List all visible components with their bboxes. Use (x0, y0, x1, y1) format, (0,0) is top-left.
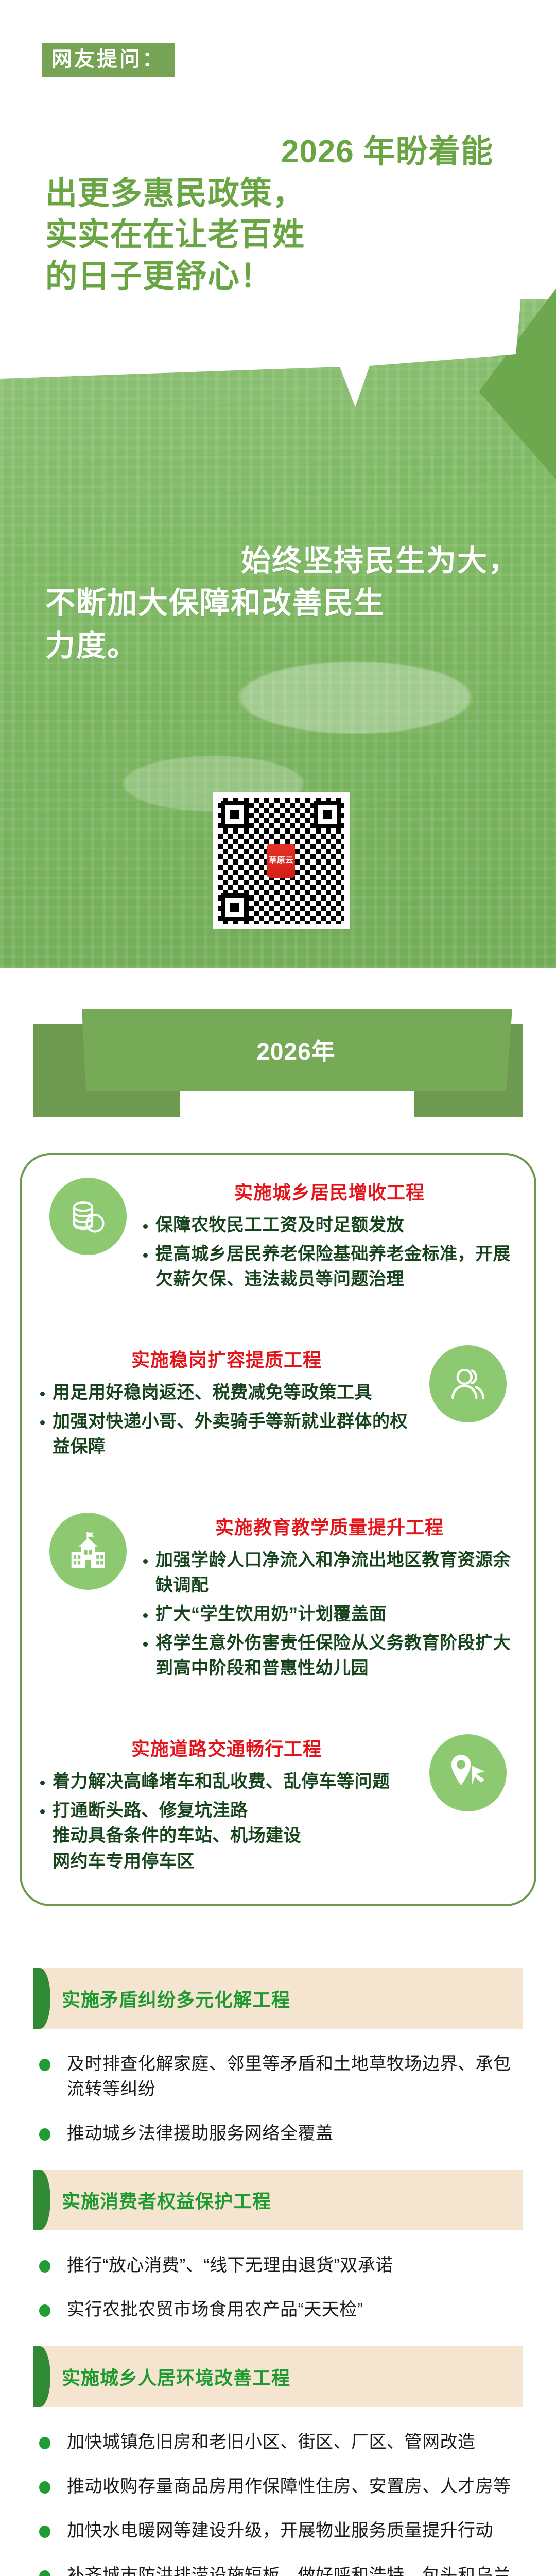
hero-banner: 网友提问： 2026 年盼着能 出更多惠民政策， 实实在在让老百姓 的日子更舒心… (0, 0, 556, 968)
year-ribbon: 2026年 (0, 968, 556, 1153)
policy-card-group: 实施城乡居民增收工程 保障农牧民工工资及时足额发放 提高城乡居民养老保险基础养老… (0, 1153, 556, 1906)
list-item: 补齐城市防洪排涝设施短板，做好呼和浩特、包头和乌兰察布等地灾后重建工作 (36, 2563, 523, 2576)
policy-card-education[interactable]: 实施教育教学质量提升工程 加强学龄人口净流入和净流出地区教育资源余缺调配 扩大“… (20, 1490, 536, 1711)
section-header: 实施消费者权益保护工程 (33, 2170, 523, 2230)
list-item: 打通断头路、修复坑洼路 推动具备条件的车站、机场建设 网约车专用停车区 (37, 1798, 416, 1875)
policy-card-employment[interactable]: 实施稳岗扩容提质工程 用足用好稳岗返还、税费减免等政策工具 加强对快递小哥、外卖… (20, 1323, 536, 1490)
list-item: 着力解决高峰堵车和乱收费、乱停车等问题 (37, 1769, 416, 1795)
list-item: 推动收购存量商品房用作保障性住房、安置房、人才房等 (36, 2474, 523, 2499)
ribbon-front-shape: 2026年 (80, 1009, 512, 1091)
list-item: 加快城镇危旧房和老旧小区、街区、厂区、管网改造 (36, 2430, 523, 2454)
list-item: 扩大“学生饮用奶”计划覆盖面 (140, 1602, 519, 1628)
section-header: 实施城乡人居环境改善工程 (33, 2346, 523, 2407)
list-item: 将学生意外伤害责任保险从义务教育阶段扩大到高中阶段和普惠性幼儿园 (140, 1631, 519, 1682)
list-item: 推行“放心消费”、“线下无理由退货”双承诺 (36, 2253, 523, 2278)
section-list: 推行“放心消费”、“线下无理由退货”双承诺 实行农批农贸市场食用农产品“天天检” (33, 2253, 523, 2323)
policy-card-title: 实施教育教学质量提升工程 (140, 1513, 519, 1539)
hero-answer-line-2: 不断加大保障和改善民生 (45, 582, 519, 624)
section-living-environment: 实施城乡人居环境改善工程 加快城镇危旧房和老旧小区、街区、厂区、管网改造 推动收… (33, 2346, 523, 2576)
section-header: 实施矛盾纠纷多元化解工程 (33, 1968, 523, 2029)
policy-card-list: 用足用好稳岗返还、税费减免等政策工具 加强对快递小哥、外卖骑手等新就业群体的权益… (37, 1380, 416, 1460)
people-icon (429, 1345, 507, 1422)
policy-card-traffic[interactable]: 实施道路交通畅行工程 着力解决高峰堵车和乱收费、乱停车等问题 打通断头路、修复坑… (20, 1711, 536, 1907)
policy-card-title: 实施道路交通畅行工程 (37, 1734, 416, 1761)
section-list: 加快城镇危旧房和老旧小区、街区、厂区、管网改造 推动收购存量商品房用作保障性住房… (33, 2430, 523, 2576)
policy-card-list: 保障农牧民工工资及时足额发放 提高城乡居民养老保险基础养老金标准，开展欠薪欠保、… (140, 1213, 519, 1293)
school-icon (49, 1513, 127, 1590)
policy-card-list: 加强学龄人口净流入和净流出地区教育资源余缺调配 扩大“学生饮用奶”计划覆盖面 将… (140, 1548, 519, 1682)
section-title: 实施城乡人居环境改善工程 (62, 2363, 290, 2390)
list-item: 保障农牧民工工资及时足额发放 (140, 1213, 519, 1239)
list-item: 用足用好稳岗返还、税费减免等政策工具 (37, 1380, 416, 1406)
list-item: 推动城乡法律援助服务网络全覆盖 (36, 2121, 523, 2146)
hero-answer-line-3: 力度。 (45, 625, 519, 667)
hero-question-line-4: 的日子更舒心！ (45, 256, 493, 298)
hero-question-line-3: 实实在在让老百姓 (45, 214, 493, 256)
qr-finder-top-left (221, 801, 249, 828)
hero-question-line-2: 出更多惠民政策， (45, 173, 493, 215)
list-item: 加快水电暖网等建设升级，开展物业服务质量提升行动 (36, 2518, 523, 2543)
coins-icon (49, 1178, 127, 1255)
qr-finder-top-right (314, 801, 341, 828)
list-item: 实行农批农贸市场食用农产品“天天检” (36, 2297, 523, 2322)
list-item: 及时排查化解家庭、邻里等矛盾和土地草牧场边界、承包流转等纠纷 (36, 2052, 523, 2102)
section-consumer-rights: 实施消费者权益保护工程 推行“放心消费”、“线下无理由退货”双承诺 实行农批农贸… (33, 2170, 523, 2323)
list-item: 提高城乡居民养老保险基础养老金标准，开展欠薪欠保、违法裁员等问题治理 (140, 1242, 519, 1293)
section-title: 实施消费者权益保护工程 (62, 2187, 271, 2213)
year-label: 2026年 (256, 1033, 335, 1067)
hero-question: 2026 年盼着能 出更多惠民政策， 实实在在让老百姓 的日子更舒心！ (45, 131, 493, 297)
section-dispute-resolution: 实施矛盾纠纷多元化解工程 及时排查化解家庭、邻里等矛盾和土地草牧场边界、承包流转… (33, 1968, 523, 2146)
qr-finder-bottom-left (221, 893, 249, 921)
policy-card-income[interactable]: 实施城乡居民增收工程 保障农牧民工工资及时足额发放 提高城乡居民养老保险基础养老… (20, 1153, 536, 1323)
hero-answer-line-1: 始终坚持民生为大， (45, 540, 519, 582)
list-item: 加强学龄人口净流入和净流出地区教育资源余缺调配 (140, 1548, 519, 1599)
section-list: 及时排查化解家庭、邻里等矛盾和土地草牧场边界、承包流转等纠纷 推动城乡法律援助服… (33, 2052, 523, 2146)
ask-badge: 网友提问： (42, 43, 175, 77)
qr-code[interactable]: 草原云 (213, 792, 350, 929)
policy-card-title: 实施城乡居民增收工程 (140, 1178, 519, 1205)
list-item: 加强对快递小哥、外卖骑手等新就业群体的权益保障 (37, 1409, 416, 1460)
qr-code-pattern: 草原云 (218, 798, 344, 924)
qr-center-logo: 草原云 (267, 844, 295, 878)
hero-question-line-1: 2026 年盼着能 (45, 131, 493, 173)
hero-answer: 始终坚持民生为大， 不断加大保障和改善民生 力度。 (45, 540, 519, 667)
traffic-location-icon (429, 1734, 507, 1811)
section-title: 实施矛盾纠纷多元化解工程 (62, 1985, 290, 2012)
policy-card-list: 着力解决高峰堵车和乱收费、乱停车等问题 打通断头路、修复坑洼路 推动具备条件的车… (37, 1769, 416, 1875)
policy-card-title: 实施稳岗扩容提质工程 (37, 1345, 416, 1372)
